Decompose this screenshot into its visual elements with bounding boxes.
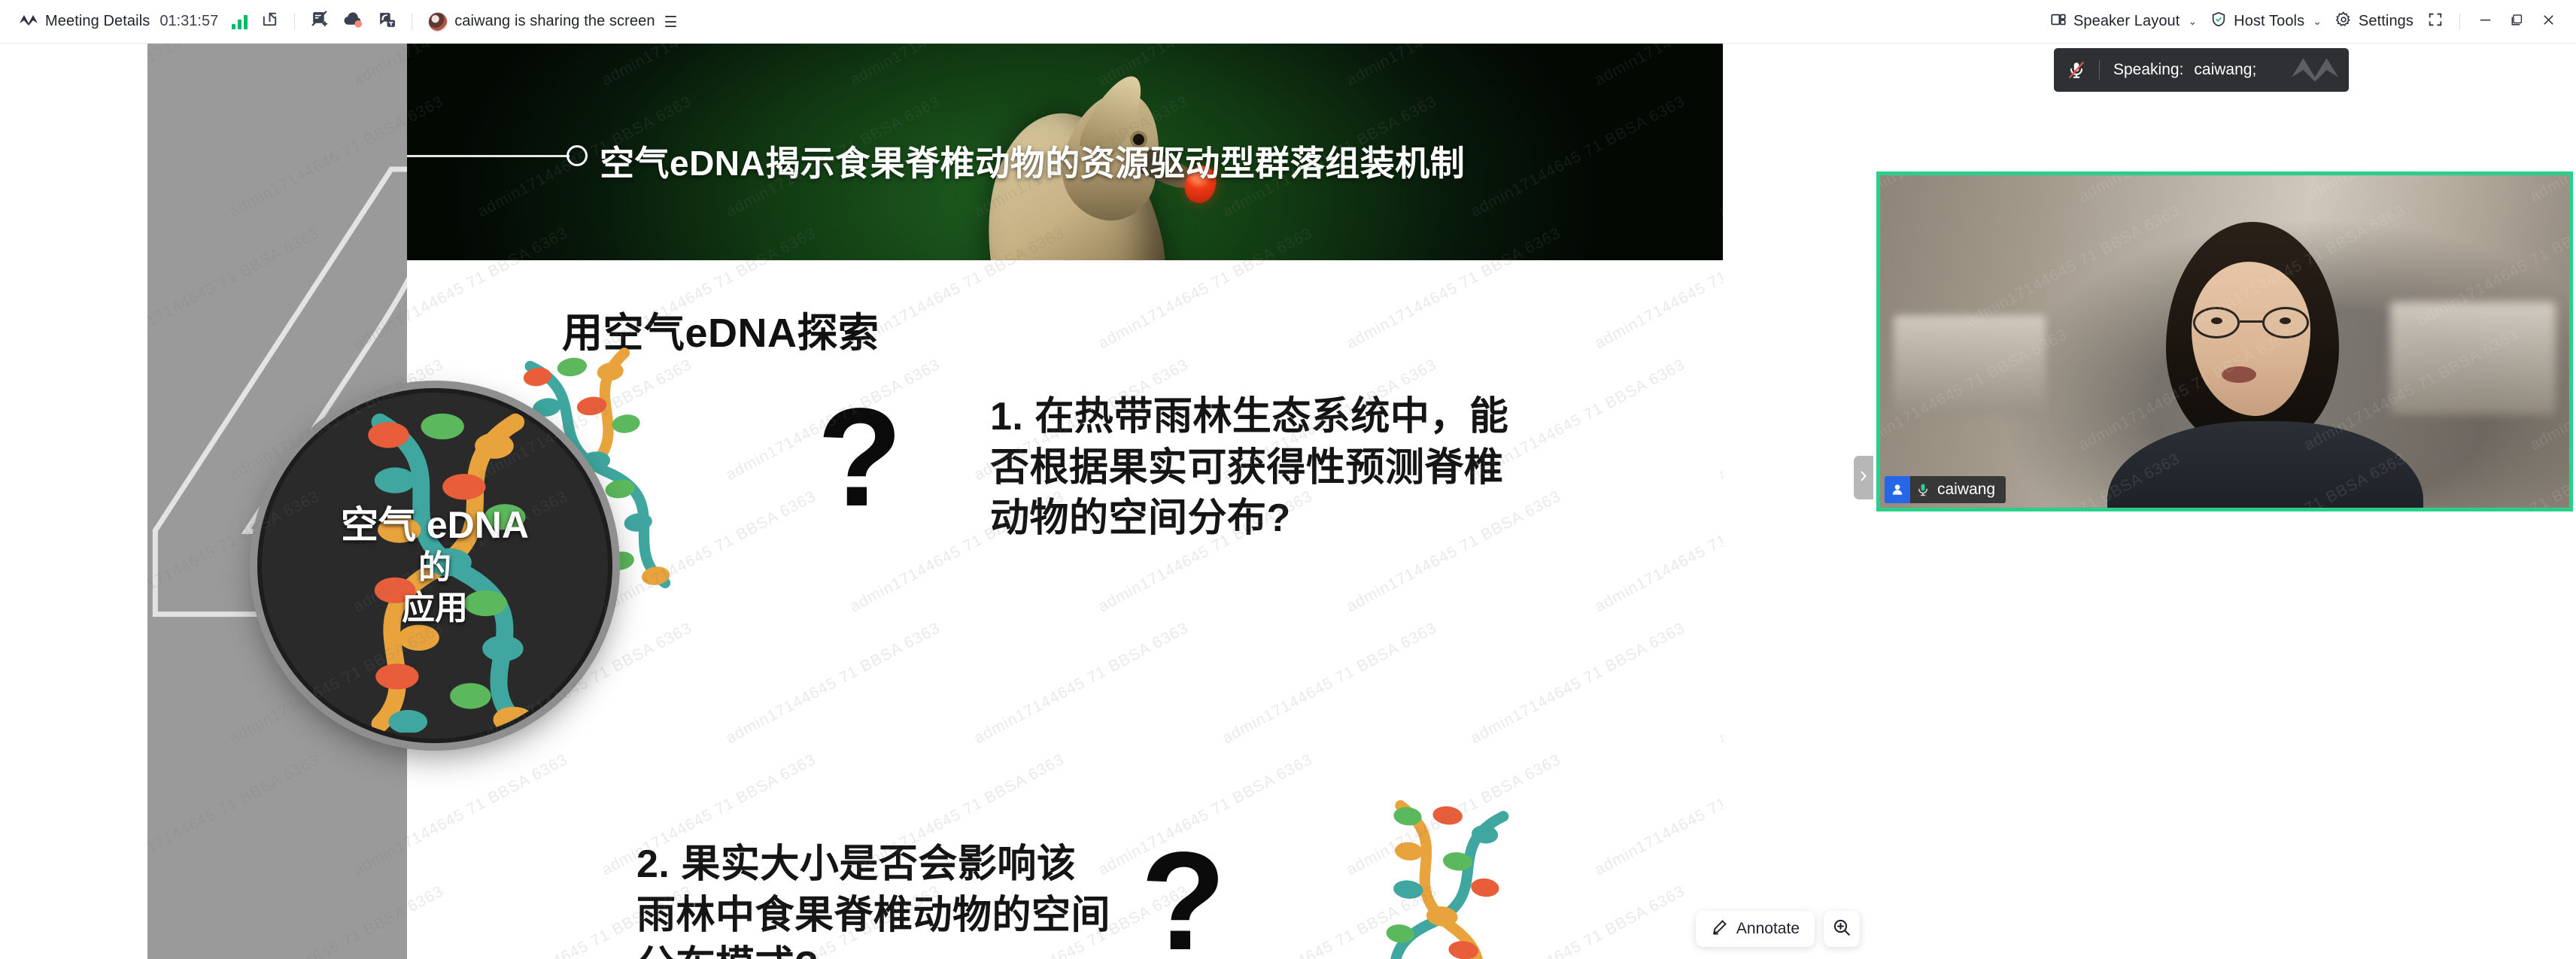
- edna-application-badge: 空气 eDNA 的 应用: [257, 388, 612, 743]
- toolbar-divider: [294, 14, 295, 30]
- zoom-in-icon: [1832, 918, 1851, 941]
- mic-muted-icon: [2054, 60, 2099, 80]
- banner-circle-marker: [567, 145, 588, 166]
- more-options-icon[interactable]: [665, 16, 676, 27]
- participant-name-badge: caiwang: [1885, 476, 2006, 503]
- ai-notes-off-icon: [311, 10, 330, 33]
- toolbar-right-group: Speaker Layout ⌄ Host Tools ⌄: [2043, 7, 2576, 37]
- speaking-label: Speaking:: [2113, 61, 2183, 79]
- layout-icon: [2050, 11, 2067, 32]
- minimize-button[interactable]: [2469, 7, 2501, 37]
- presentation-slide: 4 空气eDNA揭示食果脊椎动物的资源驱动型群落组装机制 用空气eDNA探索: [147, 44, 1723, 959]
- speaking-name: caiwang;: [2194, 61, 2256, 79]
- mic-on-icon: [1910, 482, 1936, 497]
- question-mark-1: ?: [817, 388, 903, 528]
- question-mark-2: ?: [1141, 832, 1226, 959]
- gear-icon: [2335, 11, 2352, 32]
- cloud-recording-button[interactable]: [336, 7, 370, 37]
- meeting-window: Meeting Details 01:31:57: [0, 0, 2576, 959]
- close-button[interactable]: [2532, 7, 2564, 37]
- shield-check-icon: [2210, 11, 2227, 32]
- toolbar-divider-3: [2459, 14, 2460, 30]
- shared-screen-stage[interactable]: 4 空气eDNA揭示食果脊椎动物的资源驱动型群落组装机制 用空气eDNA探索: [0, 44, 1873, 959]
- ai-notes-button[interactable]: [304, 7, 336, 37]
- sharer-avatar: [428, 12, 448, 32]
- participant-video-tile[interactable]: caiwang admin17144645 71 BBSA 6363admin1…: [1876, 171, 2573, 511]
- slide-banner: 空气eDNA揭示食果脊椎动物的资源驱动型群落组装机制: [407, 44, 1723, 260]
- speaking-divider: [2099, 60, 2100, 80]
- pencil-icon: [1711, 918, 1729, 940]
- stage-controls: Annotate: [1696, 911, 1860, 947]
- host-tools-button[interactable]: Host Tools ⌄: [2204, 7, 2328, 37]
- annotate-button[interactable]: Annotate: [1696, 911, 1815, 947]
- badge-line-1: 空气 eDNA: [341, 503, 529, 548]
- network-signal-icon: [232, 14, 248, 29]
- speaker-layout-button[interactable]: Speaker Layout ⌄: [2043, 7, 2204, 37]
- chevron-down-icon-2: ⌄: [2313, 15, 2322, 28]
- background-shelf-left: [1894, 315, 2046, 415]
- chevron-down-icon: ⌄: [2188, 15, 2197, 28]
- share-external-icon: [261, 11, 278, 32]
- live-transcription-button[interactable]: [370, 7, 402, 37]
- question-1-text: 1. 在热带雨林生态系统中，能否根据果实可获得性预测脊椎动物的空间分布?: [990, 392, 1517, 545]
- annotate-label: Annotate: [1736, 920, 1800, 938]
- meeting-details-button[interactable]: Meeting Details 01:31:57: [12, 7, 225, 37]
- meeting-details-label: Meeting Details: [45, 13, 150, 30]
- maximize-button[interactable]: [2501, 7, 2532, 37]
- settings-label: Settings: [2359, 13, 2413, 30]
- close-icon: [2541, 13, 2556, 31]
- sharing-status[interactable]: caiwang is sharing the screen: [421, 7, 682, 37]
- maximize-icon: [2510, 13, 2524, 31]
- speaking-indicator: Speaking: caiwang;: [2054, 48, 2349, 92]
- cloud-recording-icon: [343, 11, 363, 32]
- participants-panel: Speaking: caiwang;: [1873, 44, 2576, 959]
- logo-mark-icon: [19, 13, 38, 31]
- toolbar-divider-2: [412, 14, 412, 30]
- badge-line-2: 的: [418, 548, 451, 588]
- question-2-text: 2. 果实大小是否会影响该雨林中食果脊椎动物的空间分布模式?: [636, 839, 1110, 959]
- network-signal-button[interactable]: [225, 7, 254, 37]
- chevron-right-icon: [1858, 469, 1869, 487]
- sharing-status-label: caiwang is sharing the screen: [454, 13, 655, 30]
- settings-button[interactable]: Settings: [2328, 7, 2420, 37]
- participant-glasses: [2193, 307, 2309, 338]
- meeting-timer: 01:31:57: [159, 13, 218, 30]
- dna-helix-icon-2: [1338, 794, 1536, 959]
- zoom-in-button[interactable]: [1824, 911, 1860, 947]
- share-external-button[interactable]: [254, 7, 285, 37]
- fullscreen-icon: [2427, 11, 2444, 32]
- live-transcription-icon: [377, 10, 396, 33]
- host-tools-label: Host Tools: [2234, 13, 2304, 30]
- speaker-layout-label: Speaker Layout: [2073, 13, 2180, 30]
- user-icon: [1885, 476, 1910, 503]
- badge-line-3: 应用: [402, 588, 468, 629]
- minimize-icon: [2478, 13, 2492, 31]
- badge-label-group: 空气 eDNA 的 应用: [262, 393, 608, 739]
- watermark-logo-icon: [2290, 53, 2340, 87]
- toolbar-left-group: Meeting Details 01:31:57: [0, 7, 683, 37]
- fullscreen-button[interactable]: [2420, 7, 2450, 37]
- background-shelf-right: [2390, 302, 2556, 414]
- panel-collapse-handle[interactable]: [1854, 456, 1873, 499]
- banner-rule: [407, 155, 570, 157]
- top-toolbar: Meeting Details 01:31:57: [0, 0, 2576, 44]
- participant-name-label: caiwang: [1936, 481, 2006, 499]
- banner-title: 空气eDNA揭示食果脊椎动物的资源驱动型群落组装机制: [600, 136, 1465, 186]
